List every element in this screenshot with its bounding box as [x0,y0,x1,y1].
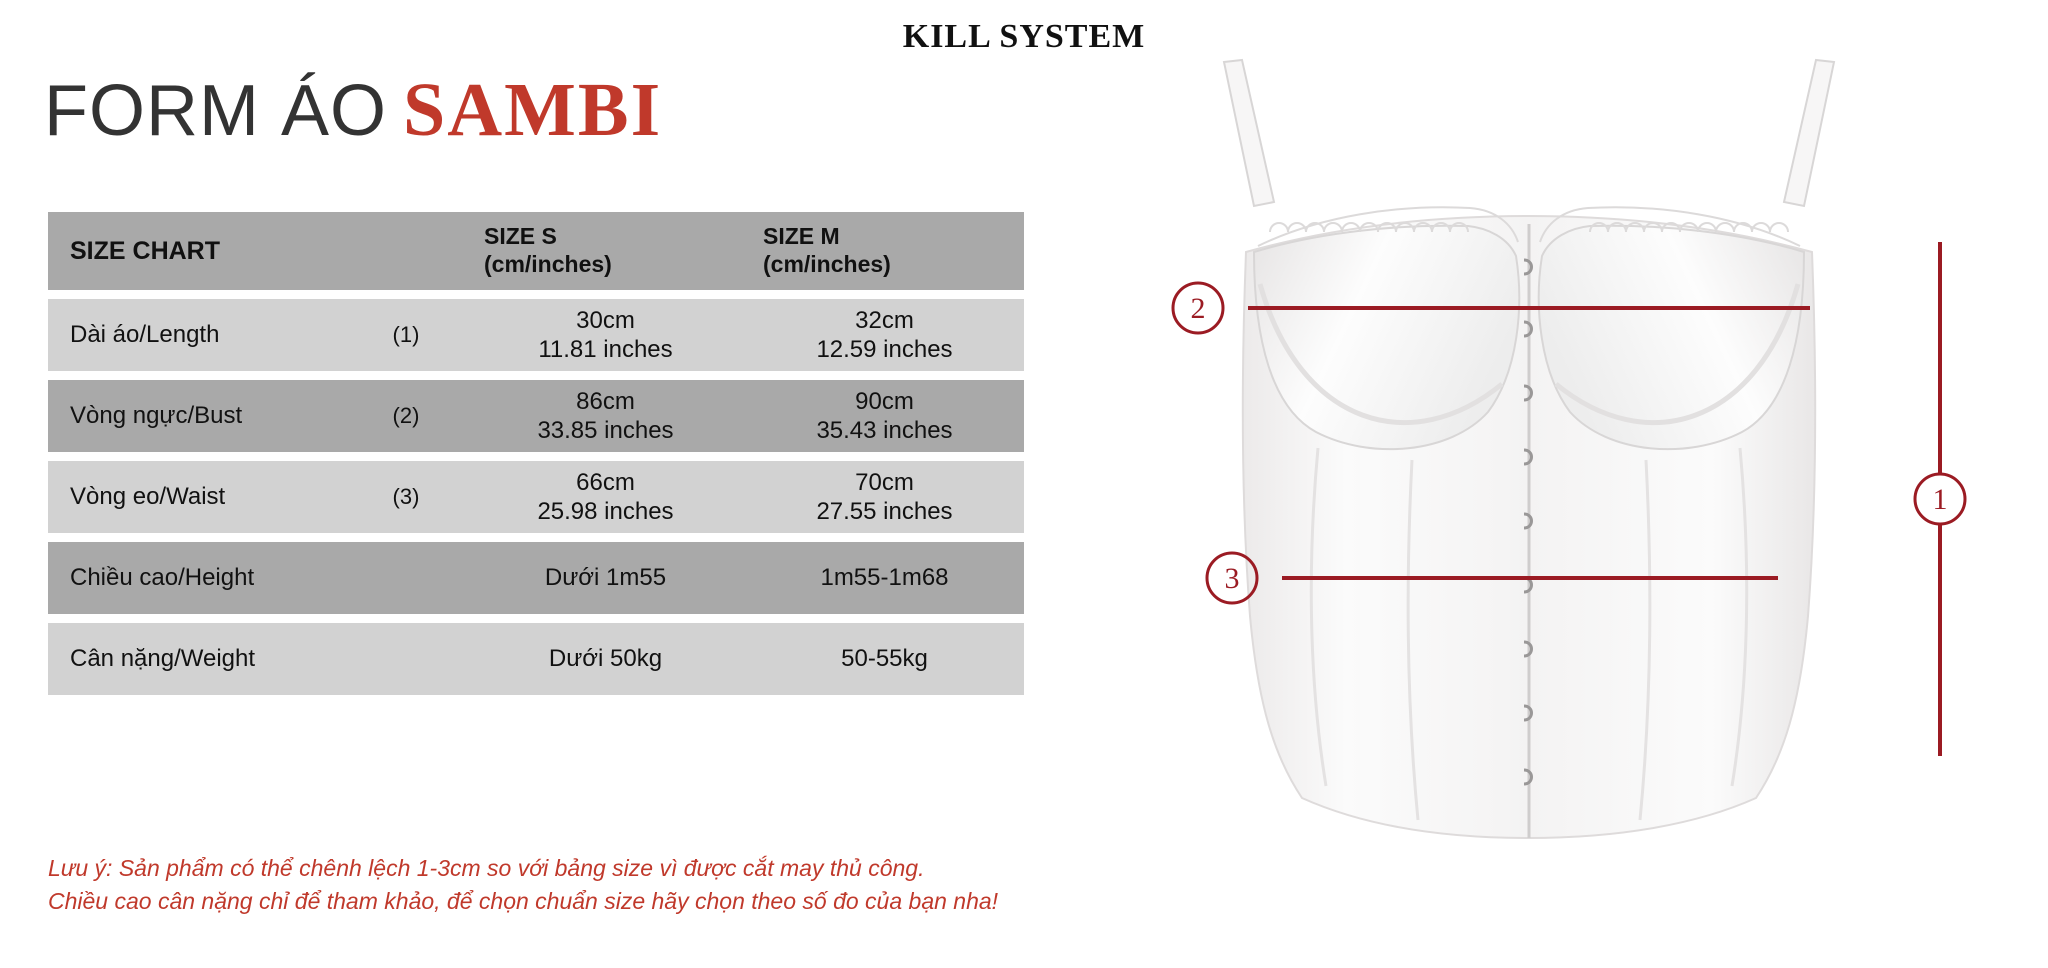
row-size-m: 50-55kg [745,644,1024,673]
row-size-s: Dưới 50kg [466,644,745,673]
row-size-m-cm: 1m55-1m68 [745,563,1024,592]
row-size-s-cm: 30cm [466,306,745,335]
row-size-m: 32cm 12.59 inches [745,306,1024,365]
row-label: Chiều cao/Height [48,564,346,592]
row-size-m: 1m55-1m68 [745,563,1024,592]
row-size-s-cm: Dưới 1m55 [466,563,745,592]
header-size-m-line1: SIZE M [763,223,1024,251]
header-size-s: SIZE S (cm/inches) [466,223,745,278]
row-size-m-in: 27.55 inches [745,497,1024,526]
row-size-s: 66cm 25.98 inches [466,468,745,527]
marker-1-icon: 1 [1915,474,1965,524]
row-size-m-in: 12.59 inches [745,335,1024,364]
table-header-row: SIZE CHART SIZE S (cm/inches) SIZE M (cm… [48,212,1024,290]
row-size-s: 86cm 33.85 inches [466,387,745,446]
header-size-m: SIZE M (cm/inches) [745,223,1024,278]
row-size-m-cm: 90cm [745,387,1024,416]
marker-3-label: 3 [1225,562,1240,595]
strap-right [1784,60,1834,206]
strap-left [1224,60,1274,206]
row-size-m-cm: 32cm [745,306,1024,335]
row-label: Vòng eo/Waist [48,483,346,511]
header-size-s-line1: SIZE S [484,223,745,251]
row-marker: (2) [346,403,466,429]
row-size-s-cm: Dưới 50kg [466,644,745,673]
row-size-m-in: 35.43 inches [745,416,1024,445]
table-row: Vòng eo/Waist (3) 66cm 25.98 inches 70cm… [48,461,1024,533]
marker-1-label: 1 [1933,483,1948,516]
size-note: Lưu ý: Sản phẩm có thể chênh lệch 1-3cm … [48,852,998,919]
row-label: Vòng ngực/Bust [48,402,346,430]
row-size-m: 90cm 35.43 inches [745,387,1024,446]
table-row: Chiều cao/Height Dưới 1m55 1m55-1m68 [48,542,1024,614]
row-label: Dài áo/Length [48,321,346,349]
row-size-s-in: 25.98 inches [466,497,745,526]
size-note-line1: Lưu ý: Sản phẩm có thể chênh lệch 1-3cm … [48,852,998,885]
row-size-s: Dưới 1m55 [466,563,745,592]
row-size-m: 70cm 27.55 inches [745,468,1024,527]
row-size-s-in: 11.81 inches [466,335,745,364]
row-size-m-cm: 50-55kg [745,644,1024,673]
size-chart-table: SIZE CHART SIZE S (cm/inches) SIZE M (cm… [48,212,1024,704]
row-size-s-cm: 86cm [466,387,745,416]
table-row: Vòng ngực/Bust (2) 86cm 33.85 inches 90c… [48,380,1024,452]
page-title: FORM ÁOSAMBI [44,72,662,148]
page-title-prefix: FORM ÁO [44,71,387,151]
garment-illustration: 2 3 1 [1150,56,2030,916]
row-marker: (1) [346,322,466,348]
row-size-s-in: 33.85 inches [466,416,745,445]
header-size-chart: SIZE CHART [48,237,346,266]
row-label: Cân nặng/Weight [48,645,346,673]
page-title-product: SAMBI [403,68,662,152]
marker-2-icon: 2 [1173,283,1223,333]
row-size-m-cm: 70cm [745,468,1024,497]
header-size-s-line2: (cm/inches) [484,251,745,279]
table-row: Cân nặng/Weight Dưới 50kg 50-55kg [48,623,1024,695]
row-marker: (3) [346,484,466,510]
row-size-s: 30cm 11.81 inches [466,306,745,365]
brand-title: KILL SYSTEM [0,18,2048,56]
size-note-line2: Chiều cao cân nặng chỉ để tham khảo, để … [48,885,998,918]
row-size-s-cm: 66cm [466,468,745,497]
marker-2-label: 2 [1191,292,1206,325]
table-row: Dài áo/Length (1) 30cm 11.81 inches 32cm… [48,299,1024,371]
header-size-m-line2: (cm/inches) [763,251,1024,279]
